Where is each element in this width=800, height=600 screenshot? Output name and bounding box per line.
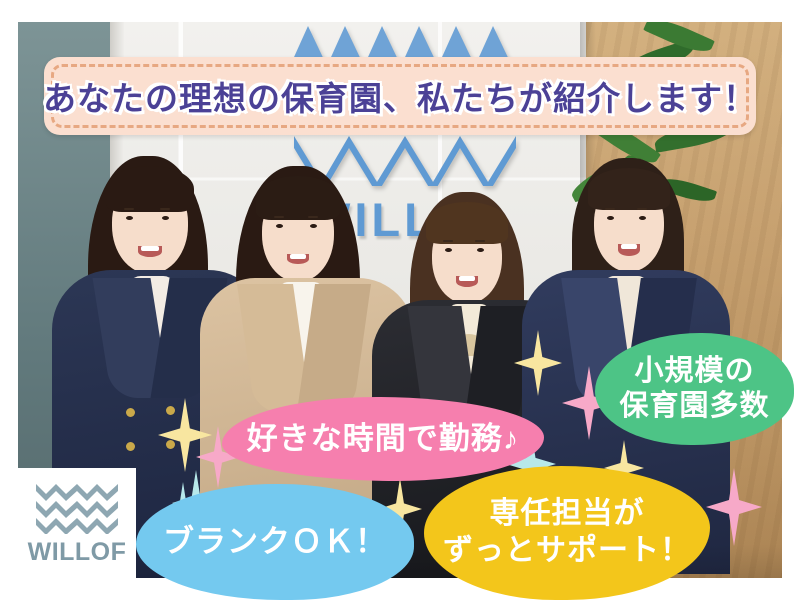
bubble-flexible-hours: 好きな時間で勤務♪ [222, 397, 544, 481]
bubble-small-scale-line1: 小規模の [634, 355, 754, 387]
headline-banner: あなたの理想の保育園、私たちが紹介します！ [44, 57, 756, 135]
willof-waves-icon [36, 482, 118, 534]
bubble-small-scale-line2: 保育園多数 [619, 390, 769, 422]
headline-text: あなたの理想の保育園、私たちが紹介します！ [44, 57, 756, 135]
willof-wordmark: WILLOF [28, 538, 127, 567]
poster-canvas: WILL [0, 0, 800, 600]
bubble-flexible-hours-line1: 好きな時間で勤務♪ [247, 420, 520, 458]
bubble-full-support-line1: 専任担当が [490, 497, 645, 530]
willof-logo: WILLOF [18, 468, 136, 580]
bubble-full-support-line2: ずっとサポート！ [443, 534, 691, 567]
bubble-blank-ok-line1: ブランクＯＫ！ [163, 523, 387, 561]
bubble-full-support: 専任担当が ずっとサポート！ [424, 466, 710, 600]
bubble-small-scale: 小規模の 保育園多数 [595, 333, 794, 445]
bubble-blank-ok: ブランクＯＫ！ [136, 484, 414, 600]
